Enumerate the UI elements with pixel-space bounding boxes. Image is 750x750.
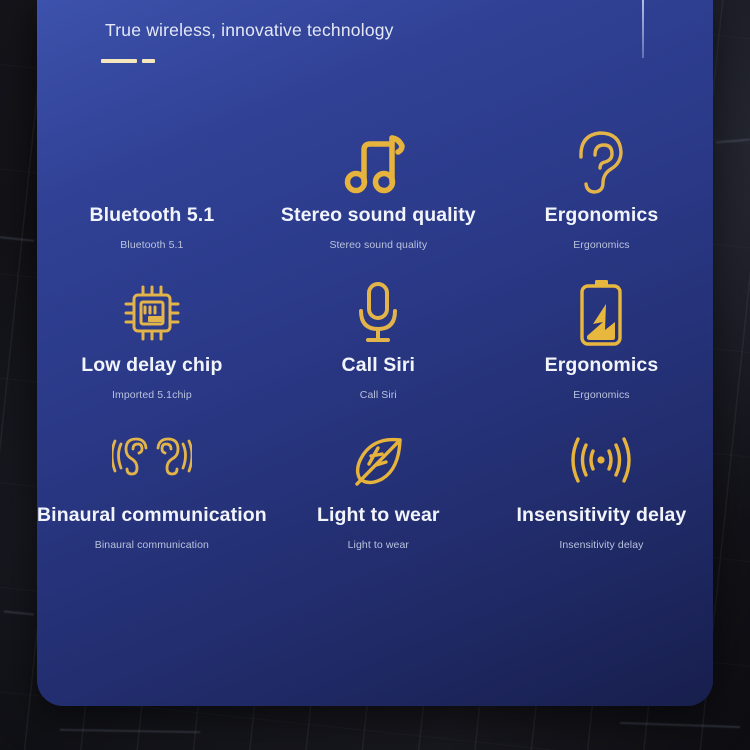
screenshot-stage: True wireless, innovative technology Blu… xyxy=(0,0,750,750)
feature-subtitle: Call Siri xyxy=(360,389,397,401)
feature-subtitle: Bluetooth 5.1 xyxy=(120,239,183,251)
accent-dashes xyxy=(101,59,155,63)
feature-title: Low delay chip xyxy=(81,356,222,376)
feature-title: Stereo sound quality xyxy=(281,206,476,226)
feature-cell-low-delay-chip: Low delay chip Imported 5.1chip xyxy=(37,268,267,418)
feature-title: Light to wear xyxy=(317,506,440,526)
signal-waves-icon xyxy=(566,422,636,504)
feature-cell-ergonomics-ear: Ergonomics Ergonomics xyxy=(490,118,713,268)
cpu-chip-icon xyxy=(120,272,184,354)
ear-icon xyxy=(570,122,632,204)
feather-icon xyxy=(349,422,407,504)
binaural-ears-icon xyxy=(112,422,192,504)
feature-subtitle: Ergonomics xyxy=(573,389,629,401)
feature-subtitle: Light to wear xyxy=(348,539,409,551)
feature-title: Bluetooth 5.1 xyxy=(89,206,214,226)
header-vertical-rule xyxy=(642,0,644,58)
feature-cell-binaural: Binaural communication Binaural communic… xyxy=(37,418,267,568)
feature-cell-insensitivity-delay: Insensitivity delay Insensitivity delay xyxy=(490,418,713,568)
microphone-icon xyxy=(354,272,402,354)
feature-cell-stereo-sound: Stereo sound quality Stereo sound qualit… xyxy=(267,118,490,268)
feature-subtitle: Imported 5.1chip xyxy=(112,389,192,401)
feature-subtitle: Insensitivity delay xyxy=(559,539,643,551)
feature-cell-light-to-wear: Light to wear Light to wear xyxy=(267,418,490,568)
page-title: True wireless, innovative technology xyxy=(105,20,394,41)
accent-dash-long xyxy=(101,59,137,63)
battery-charging-icon xyxy=(575,272,627,354)
feature-title: Ergonomics xyxy=(545,206,659,226)
feature-subtitle: Ergonomics xyxy=(573,239,629,251)
feature-title: Ergonomics xyxy=(545,356,659,376)
feature-subtitle: Stereo sound quality xyxy=(329,239,427,251)
feature-cell-ergonomics-battery: Ergonomics Ergonomics xyxy=(490,268,713,418)
feature-cell-call-siri: Call Siri Call Siri xyxy=(267,268,490,418)
accent-dash-short xyxy=(142,59,155,63)
feature-subtitle: Binaural communication xyxy=(95,539,209,551)
music-notes-icon xyxy=(344,122,412,204)
promo-card: True wireless, innovative technology Blu… xyxy=(37,0,713,706)
feature-cell-bluetooth: Bluetooth 5.1 Bluetooth 5.1 xyxy=(37,118,267,268)
feature-title: Binaural communication xyxy=(37,506,267,526)
feature-grid: Bluetooth 5.1 Bluetooth 5.1 S xyxy=(37,118,713,568)
feature-title: Call Siri xyxy=(342,356,416,376)
feature-title: Insensitivity delay xyxy=(516,506,686,526)
